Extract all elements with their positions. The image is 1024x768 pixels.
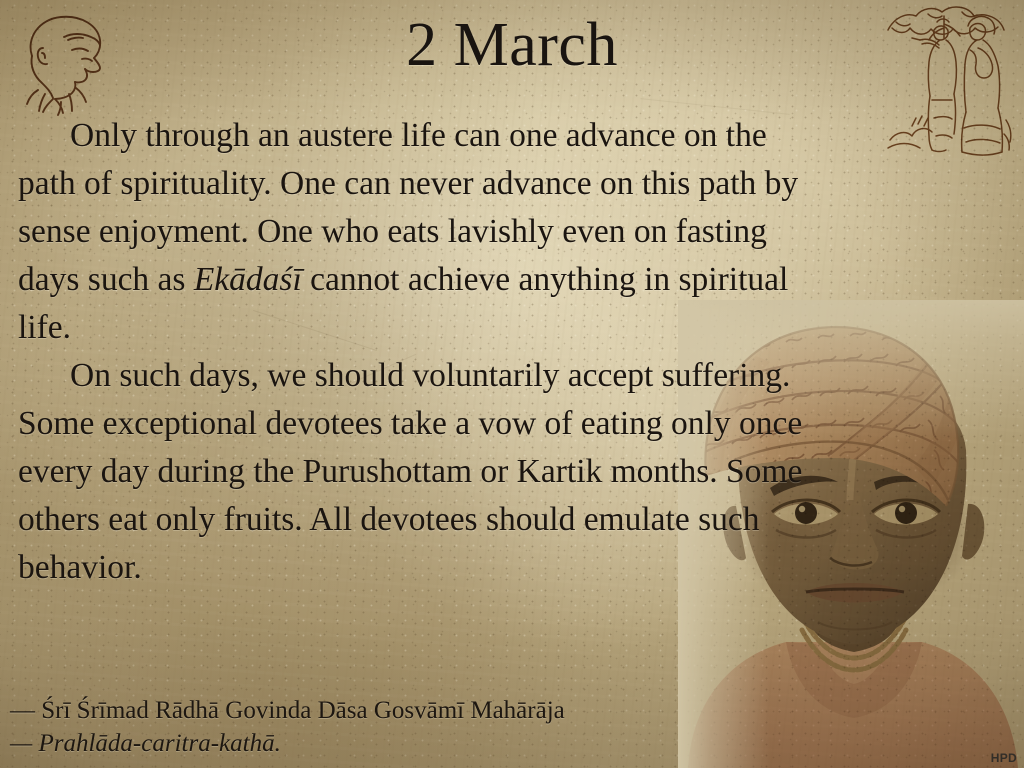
quote-card: 2 March Only through an austere life can… <box>0 0 1024 768</box>
page-title: 2 March <box>0 14 1024 76</box>
attribution: — Śrī Śrīmad Rādhā Govinda Dāsa Gosvāmī … <box>10 694 565 760</box>
attribution-source: — Prahlāda-caritra-kathā. <box>10 727 565 760</box>
attribution-speaker: — Śrī Śrīmad Rādhā Govinda Dāsa Gosvāmī … <box>10 694 565 727</box>
italic-term-ekadasi: Ekādaśī <box>194 261 302 298</box>
watermark-label: HPD <box>991 751 1017 765</box>
quote-paragraph-2: On such days, we should voluntarily acce… <box>18 352 830 592</box>
quote-body: Only through an austere life can one adv… <box>18 112 830 592</box>
quote-paragraph-1: Only through an austere life can one adv… <box>18 112 830 352</box>
